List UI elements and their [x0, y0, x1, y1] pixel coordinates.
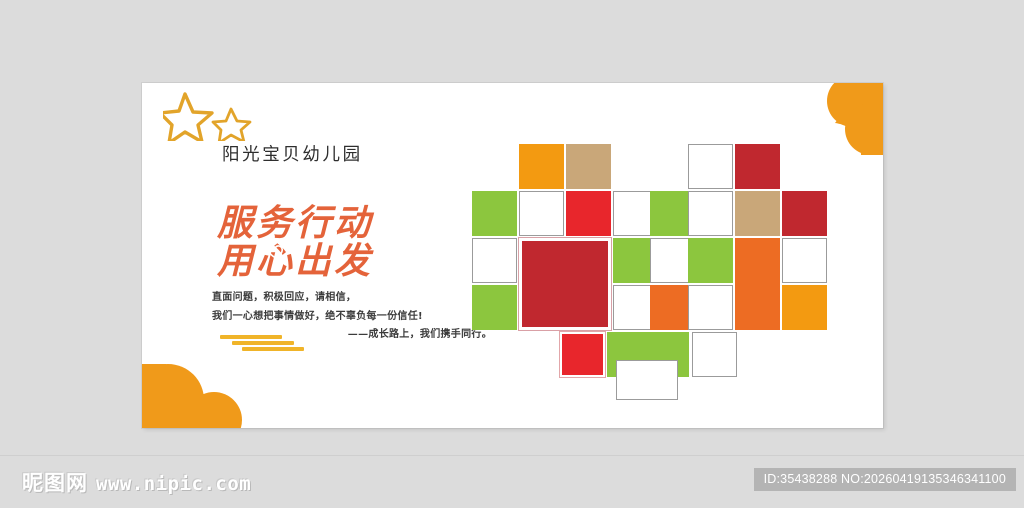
headline-line-2: 用心出发 [217, 243, 373, 281]
footer-bar: 昵图网 www.nipic.com ID:35438288 NO:2026041… [0, 455, 1024, 508]
headline-line-1: 服务行动 [217, 205, 373, 243]
tile-r4c8-orange [782, 285, 827, 330]
tile-r5c6-white [692, 332, 737, 377]
accent-bar [232, 341, 294, 345]
headline-line-2-prefix: 用 [217, 241, 256, 282]
accent-bar [220, 335, 282, 339]
star-outline-icon [163, 94, 212, 141]
tile-r2c6-white [688, 191, 733, 236]
body-copy-line-1: 直面问题，积极回应，请相信， [212, 289, 492, 308]
watermark-site-url: www.nipic.com [96, 473, 251, 495]
tile-r3c8-white [782, 238, 827, 283]
canvas-backdrop: 阳光宝贝幼儿园 服务行动 用心出发 直面问题，积极回应，请相信， 我们一心想把事… [0, 0, 1024, 507]
tile-r3-hero-red [519, 238, 611, 330]
tile-r2c3-red [566, 191, 611, 236]
asset-id-badge: ID:35438288 NO:20260419135346341100 [754, 468, 1016, 491]
headline: 服务行动 用心出发 [217, 205, 373, 281]
poster-card: 阳光宝贝幼儿园 服务行动 用心出发 直面问题，积极回应，请相信， 我们一心想把事… [142, 83, 883, 428]
tile-r1c2-orange [519, 144, 564, 189]
tile-r2c2-white [519, 191, 564, 236]
tile-r4c6-white [688, 285, 733, 330]
star-outline-icon [213, 109, 250, 141]
tile-r2c1-green [472, 191, 517, 236]
body-copy-line-2: 我们一心想把事情做好，绝不辜负每一份信任! [212, 308, 492, 327]
tile-r1c3-tan [566, 144, 611, 189]
tile-r2c8-red [782, 191, 827, 236]
headline-line-2-suffix: 出发 [295, 241, 373, 282]
tile-r5c3-red [560, 332, 605, 377]
accent-bars-decoration [220, 335, 310, 353]
headline-heart-character: 心 [256, 243, 295, 281]
heart-icon [268, 244, 285, 261]
watermark-site-name-cn: 昵图网 [22, 467, 88, 497]
cloud-shape-bottom-left-icon [142, 344, 260, 428]
stars-decoration [163, 89, 263, 141]
tile-r3c7-orange-tall [735, 238, 780, 330]
tile-r4c1-green [472, 285, 517, 330]
accent-bar [242, 347, 304, 351]
mosaic-heart-graphic [464, 144, 836, 400]
site-watermark: 昵图网 www.nipic.com [22, 467, 251, 497]
school-name: 阳光宝贝幼儿园 [222, 141, 363, 166]
tile-r6-white-wide [616, 360, 678, 400]
tile-r3c1-white [472, 238, 517, 283]
tile-r3c6-green [688, 238, 733, 283]
tile-r2c7-tan [735, 191, 780, 236]
tile-r1c6-white [688, 144, 733, 189]
tile-r1c7-red [735, 144, 780, 189]
